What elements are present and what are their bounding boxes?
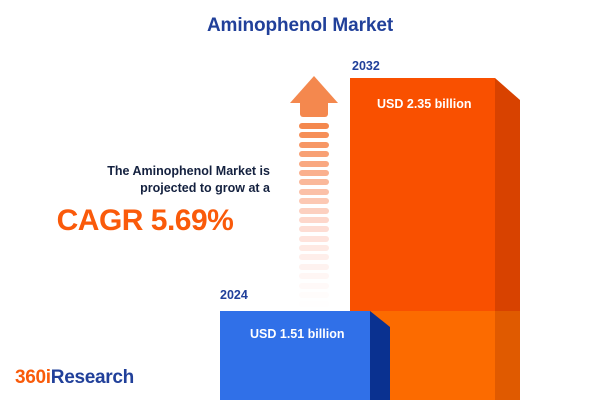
logo-research-text: Research [51,367,134,388]
arrow-stripe-10 [299,208,329,214]
arrow-stripe-17 [299,273,329,279]
page-title: Aminophenol Market [0,15,600,37]
arrow-stripes [299,123,329,298]
arrow-stripe-4 [299,151,329,157]
bar-2024-side [370,311,390,400]
arrow-neck-icon [300,102,328,117]
arrow-stripe-18 [299,283,329,289]
arrow-triangle-icon [290,76,338,103]
market-infographic: Aminophenol Market The Aminophenol Marke… [0,0,600,400]
arrow-stripe-9 [299,198,329,204]
arrow-stripe-19 [299,292,329,298]
arrow-stripe-13 [299,236,329,242]
bar-value-2032: USD 2.35 billion [377,97,471,111]
cagr-caption-block: The Aminophenol Market is projected to g… [18,163,276,238]
logo-360i-text: 360i [15,367,51,388]
arrow-stripe-5 [299,161,329,167]
arrow-stripe-12 [299,226,329,232]
arrow-stripe-14 [299,245,329,251]
bar-value-2024: USD 1.51 billion [250,327,344,341]
year-label-2032: 2032 [352,59,380,73]
bar-2024-face [220,311,370,400]
arrow-stripe-3 [299,142,329,148]
arrow-stripe-2 [299,132,329,138]
arrow-stripe-6 [299,170,329,176]
bar-2032-side-upper [495,78,520,311]
arrow-head-icon [290,76,338,120]
cagr-value: CAGR 5.69% [18,204,276,238]
arrow-stripe-15 [299,254,329,260]
caption-line-2: projected to grow at a [18,180,276,197]
year-label-2024: 2024 [220,288,248,302]
brand-logo: 360iResearch [15,367,134,389]
bar-2032-face-upper [350,78,495,311]
caption-line-1: The Aminophenol Market is [18,163,276,180]
arrow-stripe-8 [299,189,329,195]
bar-2032-side-lower [495,311,520,400]
arrow-stripe-11 [299,217,329,223]
arrow-stripe-1 [299,123,329,129]
growth-arrow-icon [290,76,338,298]
bar-2024 [220,311,390,400]
arrow-stripe-20 [299,301,329,307]
arrow-stripe-16 [299,264,329,270]
arrow-stripe-7 [299,179,329,185]
